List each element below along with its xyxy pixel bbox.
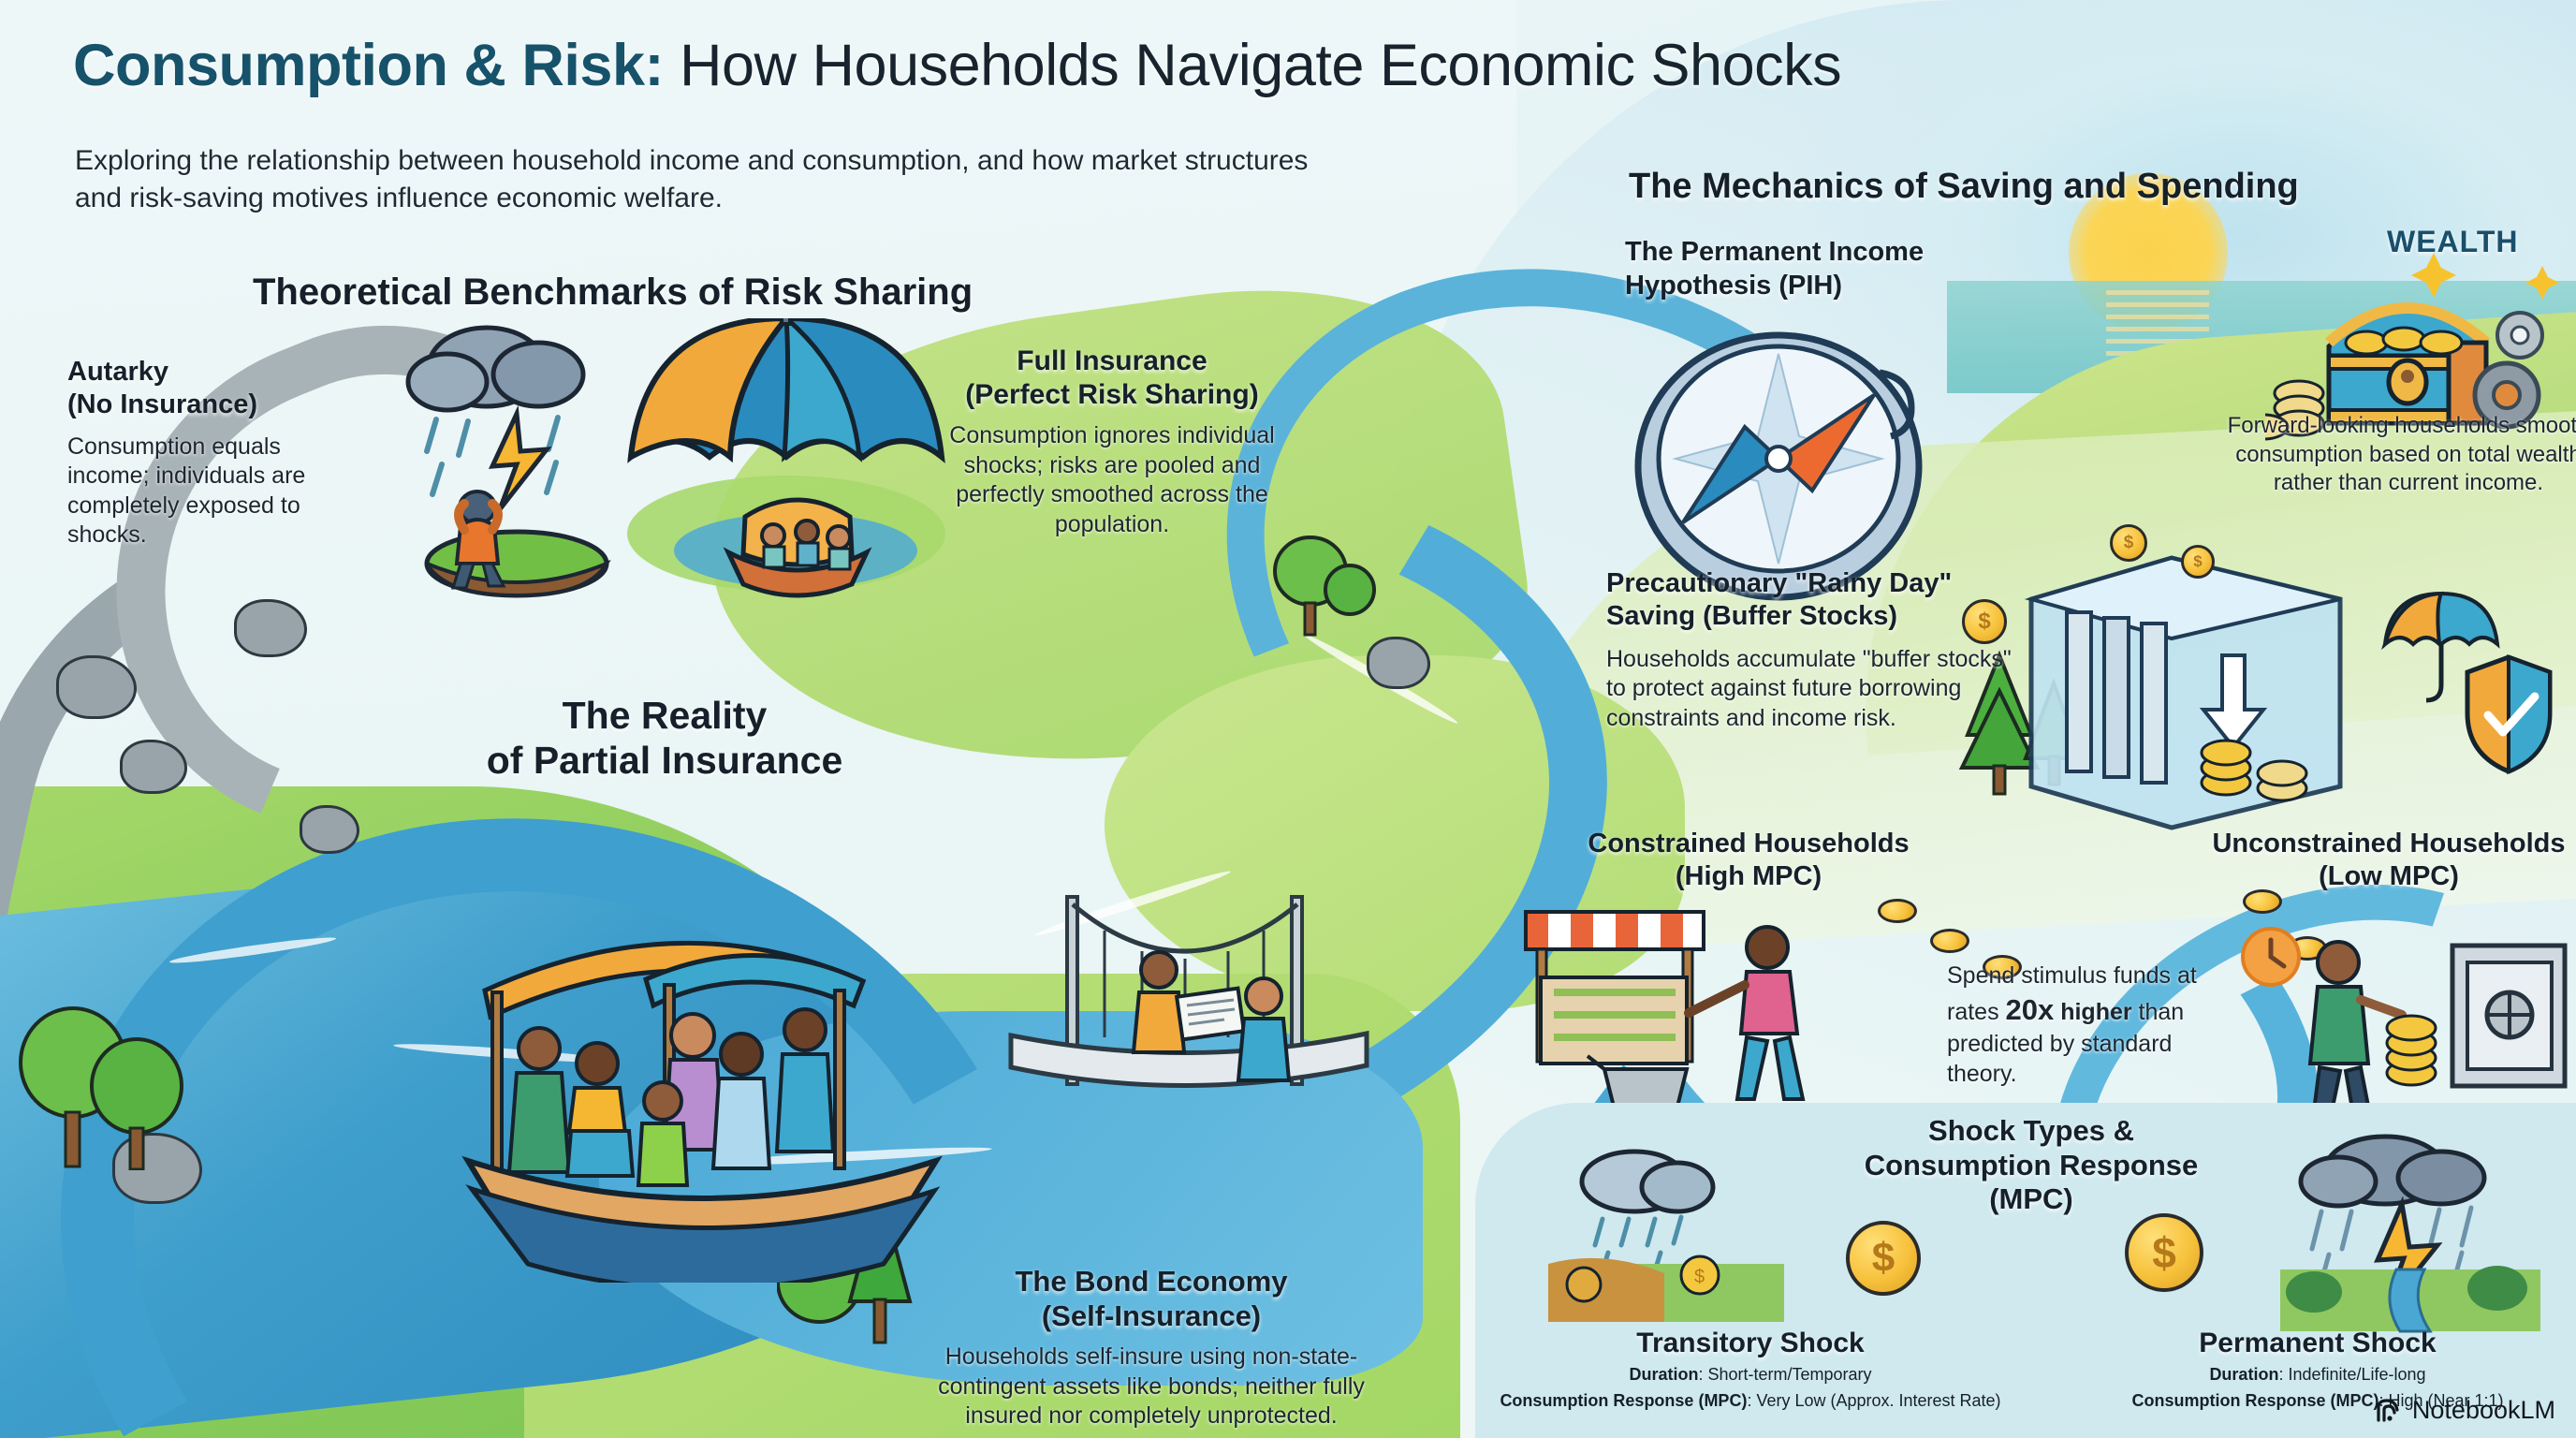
rock-icon — [1367, 637, 1430, 689]
notebooklm-logo-icon — [2375, 1398, 2405, 1424]
compass-icon — [1629, 326, 1938, 607]
pih-body: Forward-looking households smooth consum… — [2207, 412, 2576, 498]
svg-text:$: $ — [1694, 1267, 1705, 1287]
autarky-heading-line1: Autarky — [67, 356, 358, 389]
transitory-mpc-label: Consumption Response (MPC) — [1500, 1391, 1747, 1410]
transitory-mpc: Consumption Response (MPC): Very Low (Ap… — [1442, 1389, 2059, 1412]
constrained-households-block: Constrained Households (High MPC) — [1524, 828, 1973, 893]
precautionary-body: Households accumulate "buffer stocks" to… — [1606, 645, 2018, 734]
page-subtitle: Exploring the relationship between house… — [75, 142, 1320, 217]
transitory-shock-illustration: $ — [1535, 1140, 1797, 1328]
transitory-duration-label: Duration — [1629, 1365, 1698, 1384]
precautionary-block: Precautionary "Rainy Day" Saving (Buffer… — [1606, 567, 2018, 733]
dam-gate — [2067, 612, 2091, 771]
unconstrained-line1: Unconstrained Households — [2202, 828, 2576, 860]
full-insurance-heading-line2: (Perfect Risk Sharing) — [925, 378, 1299, 412]
dam-gate — [2104, 618, 2129, 777]
bridge-illustration — [992, 880, 1385, 1198]
full-insurance-block: Full Insurance (Perfect Risk Sharing) Co… — [925, 345, 1299, 539]
transitory-shock-name: Transitory Shock — [1442, 1328, 2059, 1359]
gear-icon — [2497, 313, 2542, 358]
market-stall-illustration — [1516, 899, 1891, 1133]
bond-body: Households self-insure using non-state-c… — [899, 1343, 1404, 1431]
storm-cloud-icon — [408, 328, 583, 410]
transitory-shock-block: Transitory Shock Duration: Short-term/Te… — [1442, 1328, 2059, 1413]
tree-icon — [19, 992, 187, 1170]
title-main: How Households Navigate Economic Shocks — [664, 33, 1841, 98]
permanent-shock-name: Permanent Shock — [2074, 1328, 2561, 1359]
canopy-pole — [835, 990, 844, 1168]
unconstrained-households-block: Unconstrained Households (Low MPC) — [2202, 828, 2576, 893]
precautionary-heading-line1: Precautionary "Rainy Day" — [1606, 567, 2018, 600]
sparkle-icon — [2411, 253, 2456, 298]
transitory-duration: Duration: Short-term/Temporary — [1442, 1363, 2059, 1386]
spend-note-emph-multiplier: 20x — [2006, 993, 2055, 1026]
brand-name: NotebookLM — [2412, 1396, 2555, 1425]
pih-block: The Permanent Income Hypothesis (PIH) — [1625, 236, 1981, 303]
bond-heading-line1: The Bond Economy — [899, 1264, 1404, 1299]
umbrella-icon — [631, 318, 942, 457]
full-insurance-body: Consumption ignores individual shocks; r… — [925, 421, 1299, 539]
reality-heading: The Reality of Partial Insurance — [421, 693, 908, 784]
full-insurance-illustration — [608, 318, 964, 599]
page-title: Consumption & Risk: How Households Navig… — [73, 32, 1841, 99]
reality-line2: of Partial Insurance — [421, 738, 908, 783]
safe-icon — [2452, 946, 2565, 1086]
rock-icon — [56, 655, 137, 719]
infographic-canvas: Consumption & Risk: How Households Navig… — [0, 0, 2576, 1438]
autarky-block: Autarky (No Insurance) Consumption equal… — [67, 356, 358, 550]
sparkle-icon — [2525, 266, 2559, 300]
rock-icon — [234, 599, 307, 657]
full-insurance-heading-line1: Full Insurance — [925, 345, 1299, 378]
shock-title-line1: Shock Types & — [1825, 1114, 2237, 1149]
rain-cloud-icon — [1582, 1152, 1713, 1211]
precautionary-heading-line2: Saving (Buffer Stocks) — [1606, 600, 2018, 633]
gold-coins-icon — [2387, 1016, 2436, 1085]
reality-line1: The Reality — [421, 693, 908, 738]
constrained-line2: (High MPC) — [1524, 860, 1973, 893]
coin-icon — [1878, 899, 1917, 923]
bond-heading-line2: (Self-Insurance) — [899, 1299, 1404, 1333]
dam-gate — [2142, 624, 2166, 783]
brand-notebooklm: NotebookLM — [2375, 1396, 2555, 1425]
pih-heading-line2: Hypothesis (PIH) — [1625, 270, 1981, 303]
lightning-bolt-icon — [492, 414, 547, 509]
person-facing-icon — [1238, 978, 1289, 1080]
canopy-pole — [492, 992, 502, 1170]
permanent-duration-label: Duration — [2209, 1365, 2278, 1384]
storm-cloud-icon — [2301, 1137, 2484, 1206]
shield-check-icon — [2467, 657, 2550, 771]
permanent-duration-value: : Indefinite/Life-long — [2278, 1365, 2425, 1384]
shock-title-line3: (MPC) — [1825, 1182, 2237, 1217]
coin-icon — [2243, 889, 2282, 914]
coin-icon: $ — [2125, 1213, 2203, 1292]
coin-icon — [1930, 929, 1969, 953]
left-section-title: Theoretical Benchmarks of Risk Sharing — [253, 271, 973, 314]
coin-icon: $ — [2181, 545, 2215, 579]
document-icon — [1177, 989, 1244, 1040]
coin-icon: $ — [1846, 1221, 1921, 1296]
transitory-mpc-value: : Very Low (Approx. Interest Rate) — [1747, 1391, 2000, 1410]
constrained-line1: Constrained Households — [1524, 828, 1973, 860]
coin-icon: $ — [2110, 524, 2147, 562]
coin-icon: $ — [1962, 599, 2007, 644]
autarky-heading-line2: (No Insurance) — [67, 389, 358, 421]
transitory-duration-value: : Short-term/Temporary — [1698, 1365, 1871, 1384]
permanent-shock-illustration — [2275, 1127, 2546, 1333]
right-section-title: The Mechanics of Saving and Spending — [1629, 167, 2299, 207]
dam-buffer-stock-illustration — [2012, 543, 2359, 833]
permanent-duration: Duration: Indefinite/Life-long — [2074, 1363, 2561, 1386]
spend-stimulus-note: Spend stimulus funds at rates 20x higher… — [1947, 961, 2209, 1090]
title-accent: Consumption & Risk: — [73, 33, 664, 98]
tree-icon — [1273, 524, 1376, 637]
safe-and-saver-illustration — [2218, 917, 2574, 1133]
bridge-deck — [1011, 1034, 1367, 1086]
family-boat-illustration — [412, 880, 1011, 1283]
pih-heading-line1: The Permanent Income — [1625, 236, 1981, 270]
boat-with-people-icon — [728, 500, 867, 595]
protection-icons — [2378, 590, 2565, 805]
autarky-body: Consumption equals income; individuals a… — [67, 433, 358, 550]
rock-icon — [300, 805, 359, 854]
permanent-mpc-label: Consumption Response (MPC) — [2131, 1391, 2378, 1410]
shock-title-line2: Consumption Response — [1825, 1149, 2237, 1183]
rock-icon — [120, 740, 187, 794]
shock-panel-title: Shock Types & Consumption Response (MPC) — [1825, 1114, 2237, 1217]
bond-economy-block: The Bond Economy (Self-Insurance) Househ… — [899, 1264, 1404, 1431]
unconstrained-line2: (Low MPC) — [2202, 860, 2576, 893]
shopper-icon — [1689, 927, 1803, 1099]
spend-note-emph-higher: higher — [2054, 999, 2131, 1025]
family-figures-icon — [509, 1009, 833, 1185]
